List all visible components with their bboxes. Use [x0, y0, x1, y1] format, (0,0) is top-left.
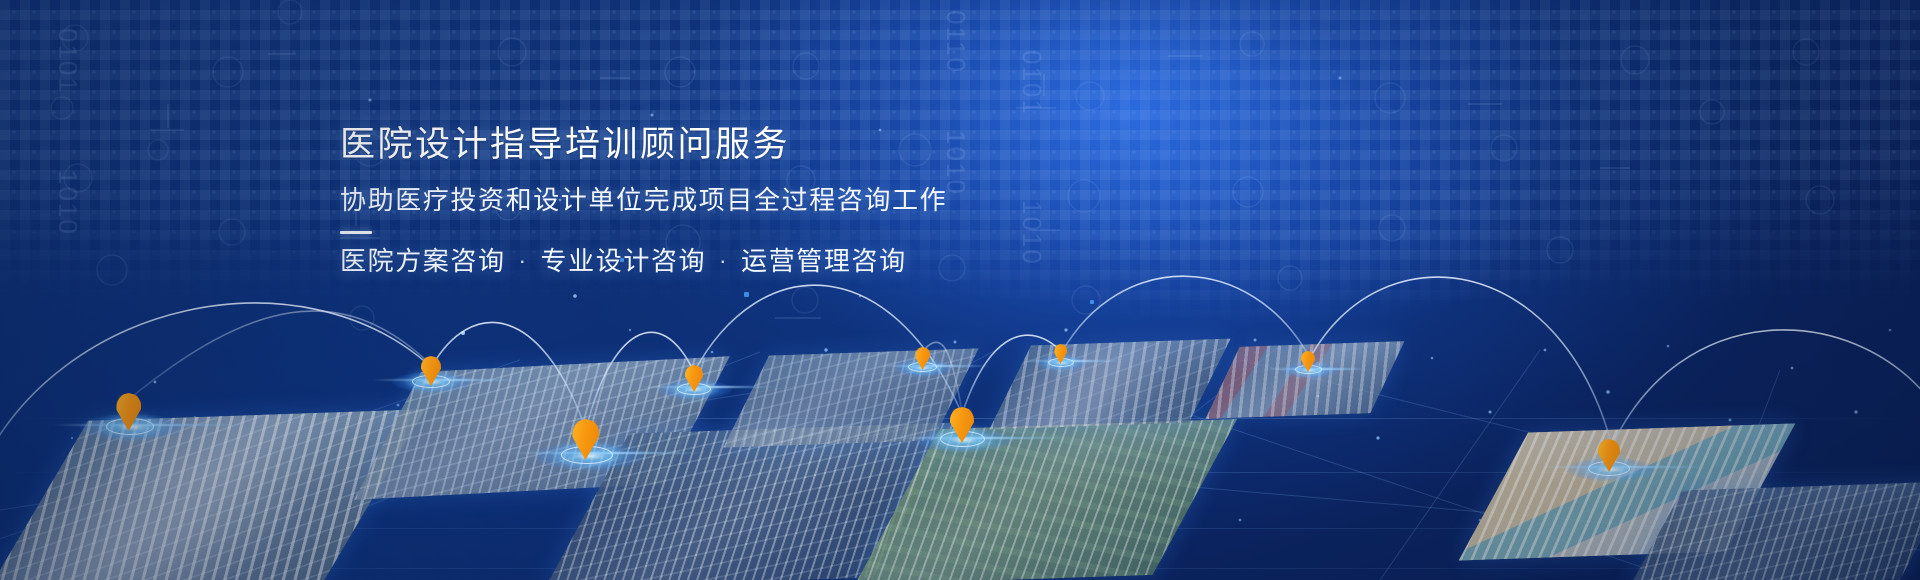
connection-arcs [0, 0, 1920, 580]
hero-subtitle: 协助医疗投资和设计单位完成项目全过程咨询工作 [340, 182, 947, 218]
hero-tagline: 医院方案咨询 · 专业设计咨询 · 运营管理咨询 [340, 243, 947, 279]
tagline-item-2: 专业设计咨询 [541, 243, 707, 279]
tagline-separator-1: · [519, 243, 528, 279]
hero-banner: 0101 1010 0110 1010 0101 1010 [0, 0, 1920, 580]
hero-text-block: 医院设计指导培训顾问服务 协助医疗投资和设计单位完成项目全过程咨询工作 医院方案… [340, 122, 947, 279]
tagline-item-3: 运营管理咨询 [741, 243, 907, 279]
title-divider [340, 231, 372, 234]
hero-title: 医院设计指导培训顾问服务 [340, 122, 947, 168]
tagline-item-1: 医院方案咨询 [340, 243, 506, 279]
tagline-separator-2: · [719, 243, 728, 279]
